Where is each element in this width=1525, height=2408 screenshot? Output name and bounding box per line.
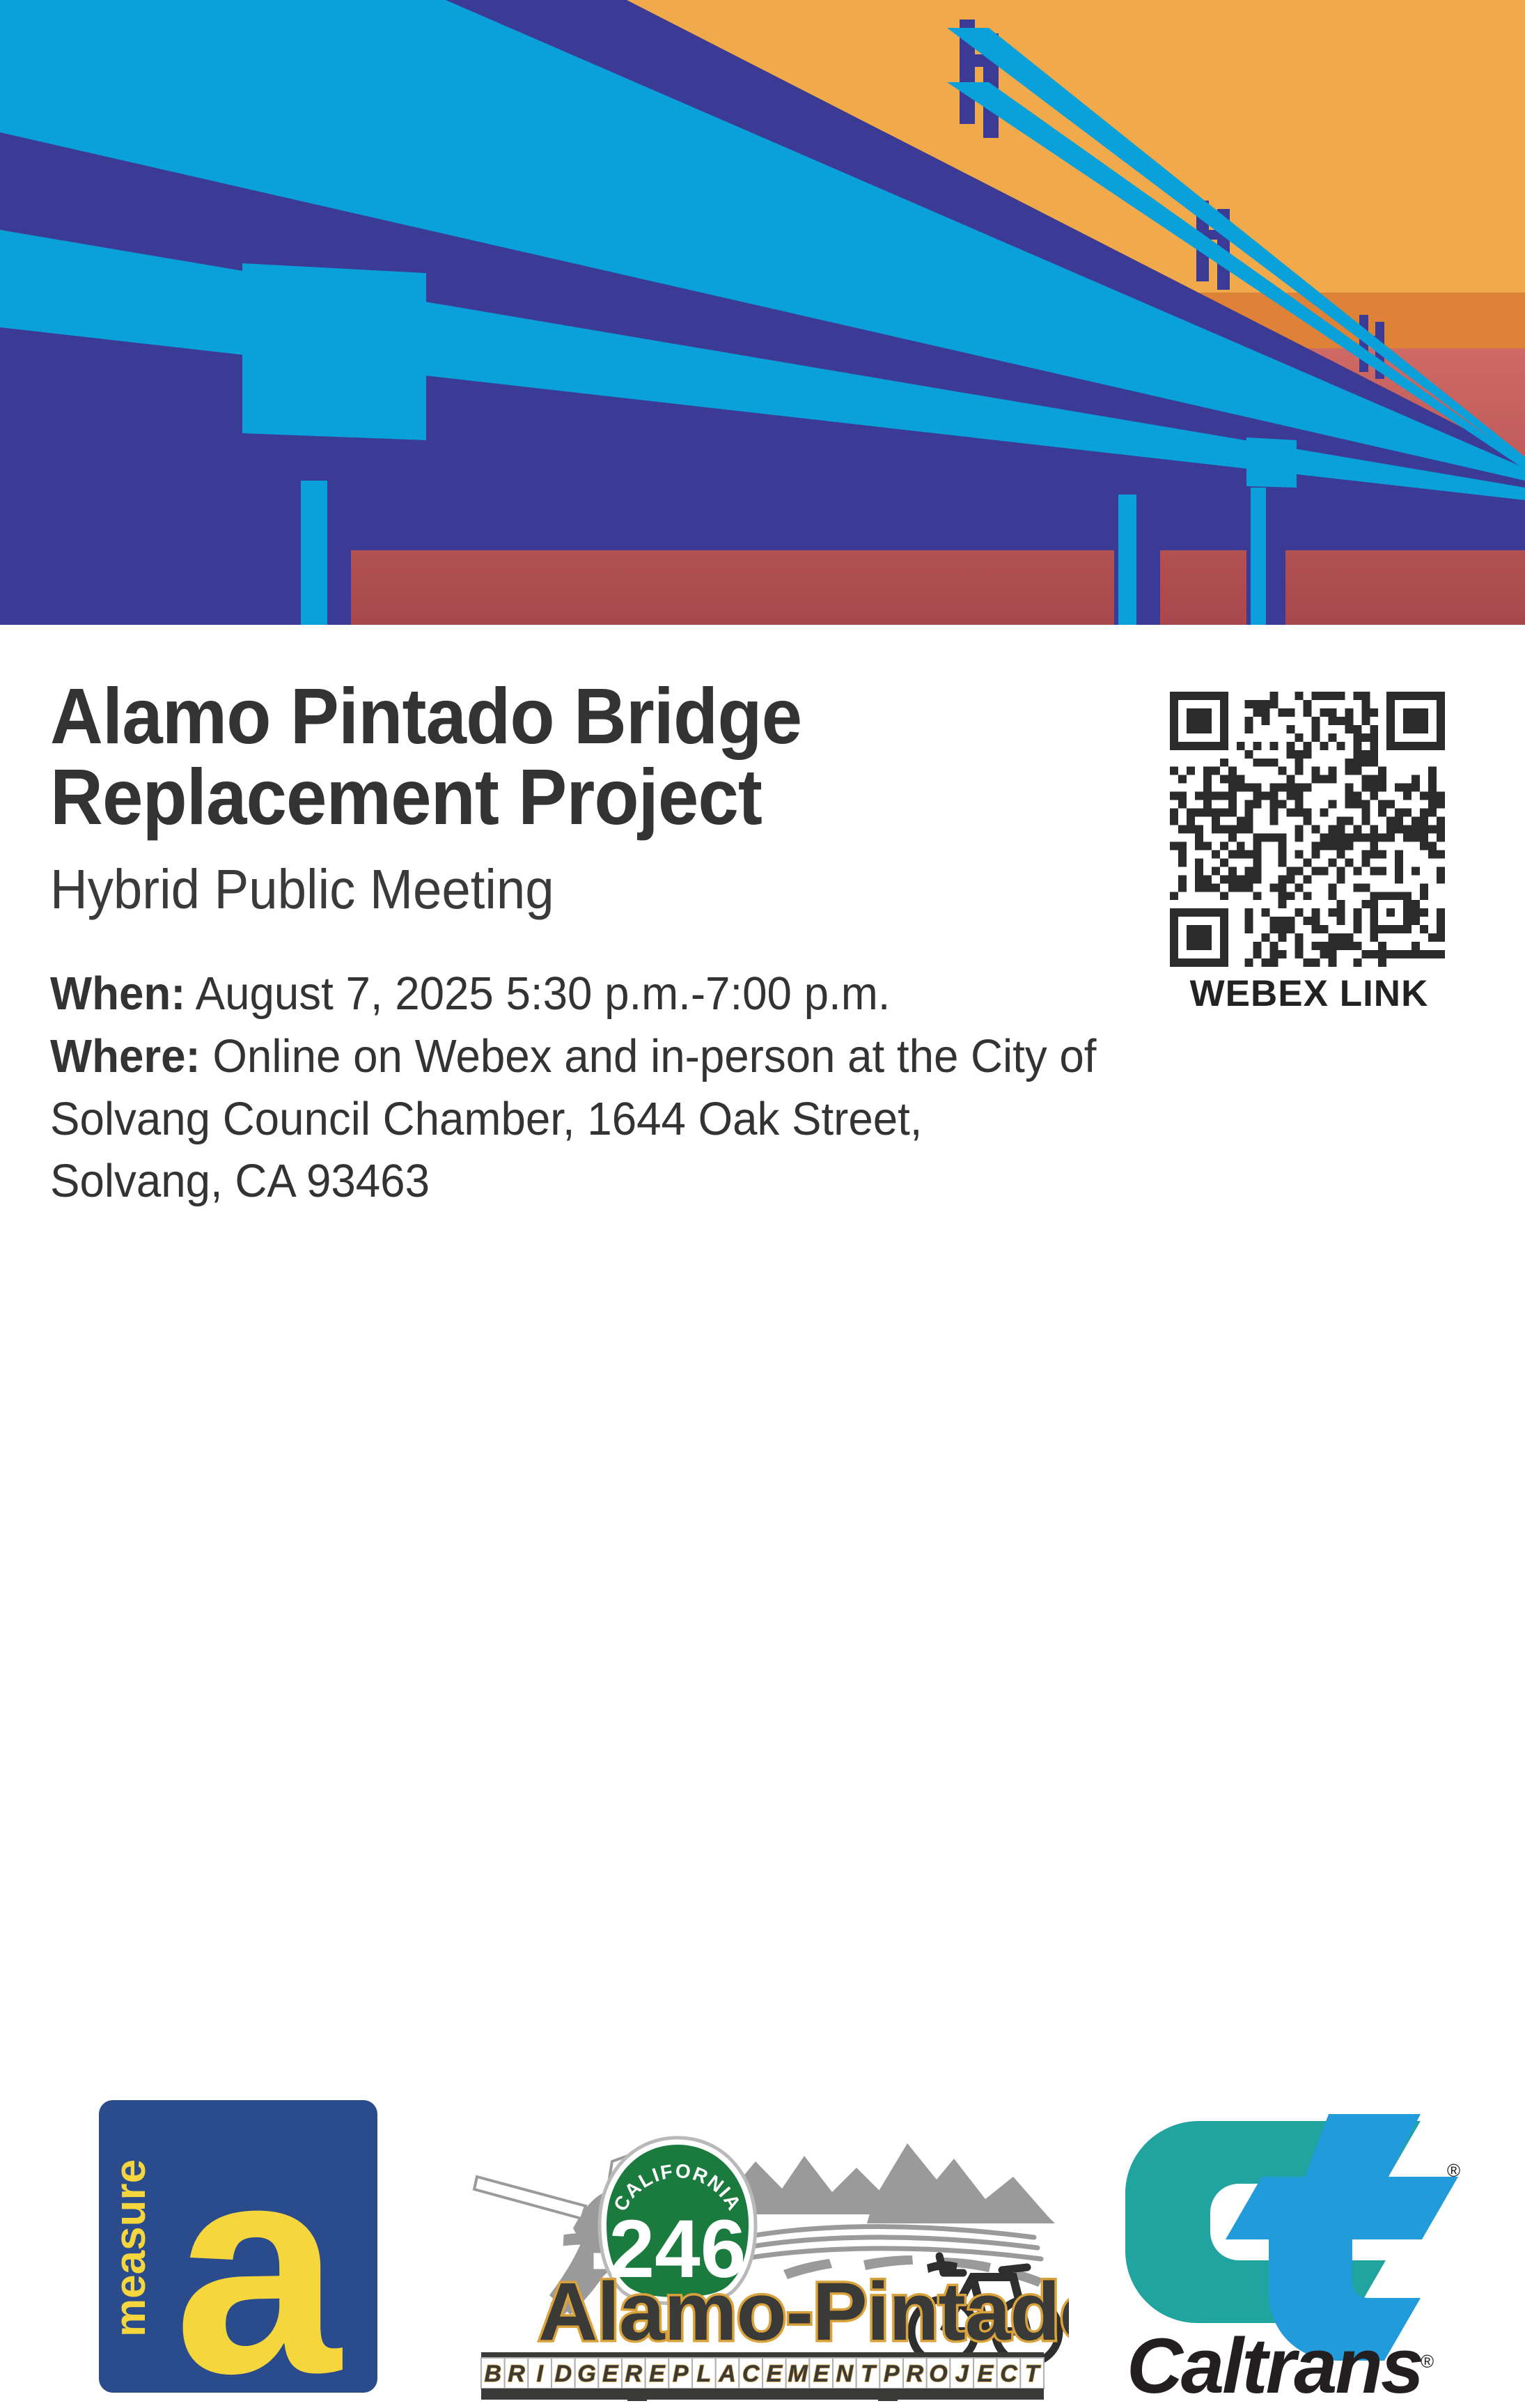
pier-column-3 <box>1251 488 1266 625</box>
deck-letter: E <box>602 2361 619 2387</box>
page-subtitle: Hybrid Public Meeting <box>50 860 1035 919</box>
qr-label: WEBEX LINK <box>1170 972 1448 1015</box>
alamo-pintado-project-logo: CALIFORNIA 246 Alam <box>456 2095 1069 2401</box>
deck-letter: P <box>884 2361 900 2387</box>
project-wordmark: Alamo-Pintado <box>538 2266 1069 2358</box>
project-logo-svg: CALIFORNIA 246 Alam <box>456 2095 1069 2401</box>
where-label: Where: <box>50 1030 201 1082</box>
caltrans-wordmark: Caltrans <box>1127 2322 1422 2401</box>
deck-letter: D <box>555 2361 572 2387</box>
deck-letter: C <box>1000 2361 1017 2387</box>
caltrans-mark-registered: ® <box>1447 2160 1460 2181</box>
when-label: When: <box>50 968 185 1020</box>
measure-a-svg: measure a <box>99 2100 377 2393</box>
hero-svg <box>0 0 1525 625</box>
webex-qr-block[interactable]: WEBEX LINK <box>1170 692 1448 1015</box>
pier-column-1 <box>301 481 327 625</box>
deck-letter: G <box>577 2361 595 2387</box>
detail-where: Where: Online on Webex and in-person at … <box>50 1025 1102 1213</box>
qr-code-image[interactable] <box>1170 692 1445 967</box>
deck-letter: I <box>536 2361 544 2387</box>
deck-letter: O <box>929 2361 947 2387</box>
deck-letter: P <box>673 2361 689 2387</box>
deck-letter: R <box>625 2361 643 2387</box>
caltrans-wordmark-registered: ® <box>1421 2351 1434 2372</box>
page-title-line1: Alamo Pintado Bridge <box>50 676 1035 756</box>
pier-cap-right <box>1246 437 1297 488</box>
deck-letter: L <box>696 2361 711 2387</box>
deck-letter: R <box>508 2361 525 2387</box>
caltrans-svg: ® Caltrans ® <box>1093 2095 1462 2401</box>
where-value: Online on Webex and in-person at the Cit… <box>50 1030 1096 1208</box>
logo-row: measure a <box>0 2088 1525 2408</box>
bridge-deck-tagline: BRIDGEREPLACEMENTPROJECT <box>481 2352 1044 2401</box>
measure-letter-a: a <box>174 2102 343 2393</box>
deck-letter: T <box>1025 2361 1042 2387</box>
deck-letter: A <box>718 2361 736 2387</box>
hero-bridge-illustration <box>0 0 1525 625</box>
deck-letter: E <box>766 2361 783 2387</box>
title-block: Alamo Pintado Bridge Replacement Project… <box>50 676 1109 919</box>
caltrans-logo: ® Caltrans ® <box>1093 2095 1462 2401</box>
deck-letter: T <box>861 2361 877 2387</box>
flyer-page: Alamo Pintado Bridge Replacement Project… <box>0 0 1525 1837</box>
measure-a-logo: measure a <box>99 2100 377 2393</box>
measure-word: measure <box>107 2159 155 2337</box>
deck-letter: N <box>836 2361 854 2387</box>
deck-letter: E <box>649 2361 666 2387</box>
deck-letter: B <box>485 2361 502 2387</box>
deck-letter: E <box>813 2361 830 2387</box>
deck-letter: R <box>907 2361 924 2387</box>
deck-letter: E <box>977 2361 994 2387</box>
when-value: August 7, 2025 5:30 p.m.-7:00 p.m. <box>196 968 891 1020</box>
deck-letter: M <box>788 2361 808 2387</box>
detail-when: When: August 7, 2025 5:30 p.m.-7:00 p.m. <box>50 963 1102 1025</box>
pier-column-2 <box>1118 495 1136 625</box>
deck-letter: J <box>955 2361 969 2387</box>
deck-letter: C <box>742 2361 760 2387</box>
abutment-window <box>242 263 426 440</box>
meeting-details: When: August 7, 2025 5:30 p.m.-7:00 p.m.… <box>50 963 1157 1213</box>
page-title-line2: Replacement Project <box>50 756 1035 837</box>
